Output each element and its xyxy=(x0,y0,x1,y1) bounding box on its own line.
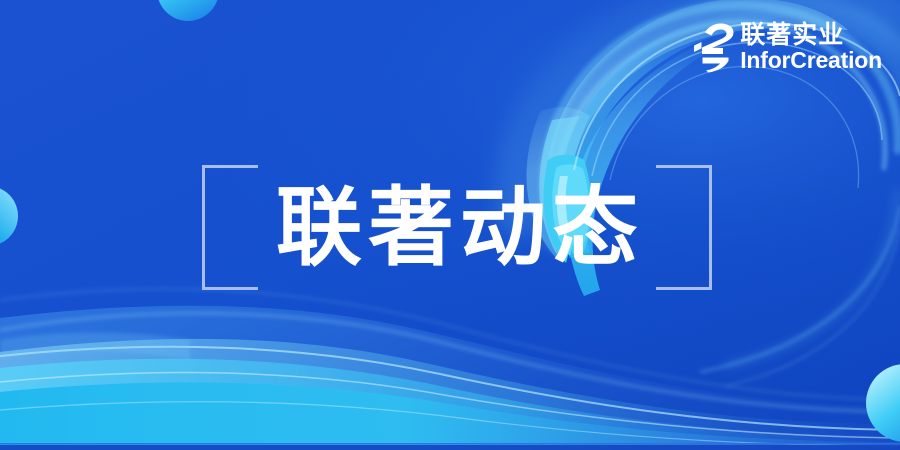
page-title: 联著动态 xyxy=(202,185,712,271)
logo-chinese-name: 联著实业 xyxy=(740,21,882,48)
title-block: 联著动态 xyxy=(202,165,712,290)
inforcreation-logo-mark-icon xyxy=(690,21,734,73)
logo-english-name: InforCreation xyxy=(740,48,882,73)
promo-banner: 联著动态 联著实业 InforCreation xyxy=(0,0,900,450)
bottom-rule-divider xyxy=(0,443,900,445)
bottom-edge-strip xyxy=(0,445,900,450)
brand-logo: 联著实业 InforCreation xyxy=(690,18,882,76)
logo-wordmark: 联著实业 InforCreation xyxy=(740,20,882,74)
